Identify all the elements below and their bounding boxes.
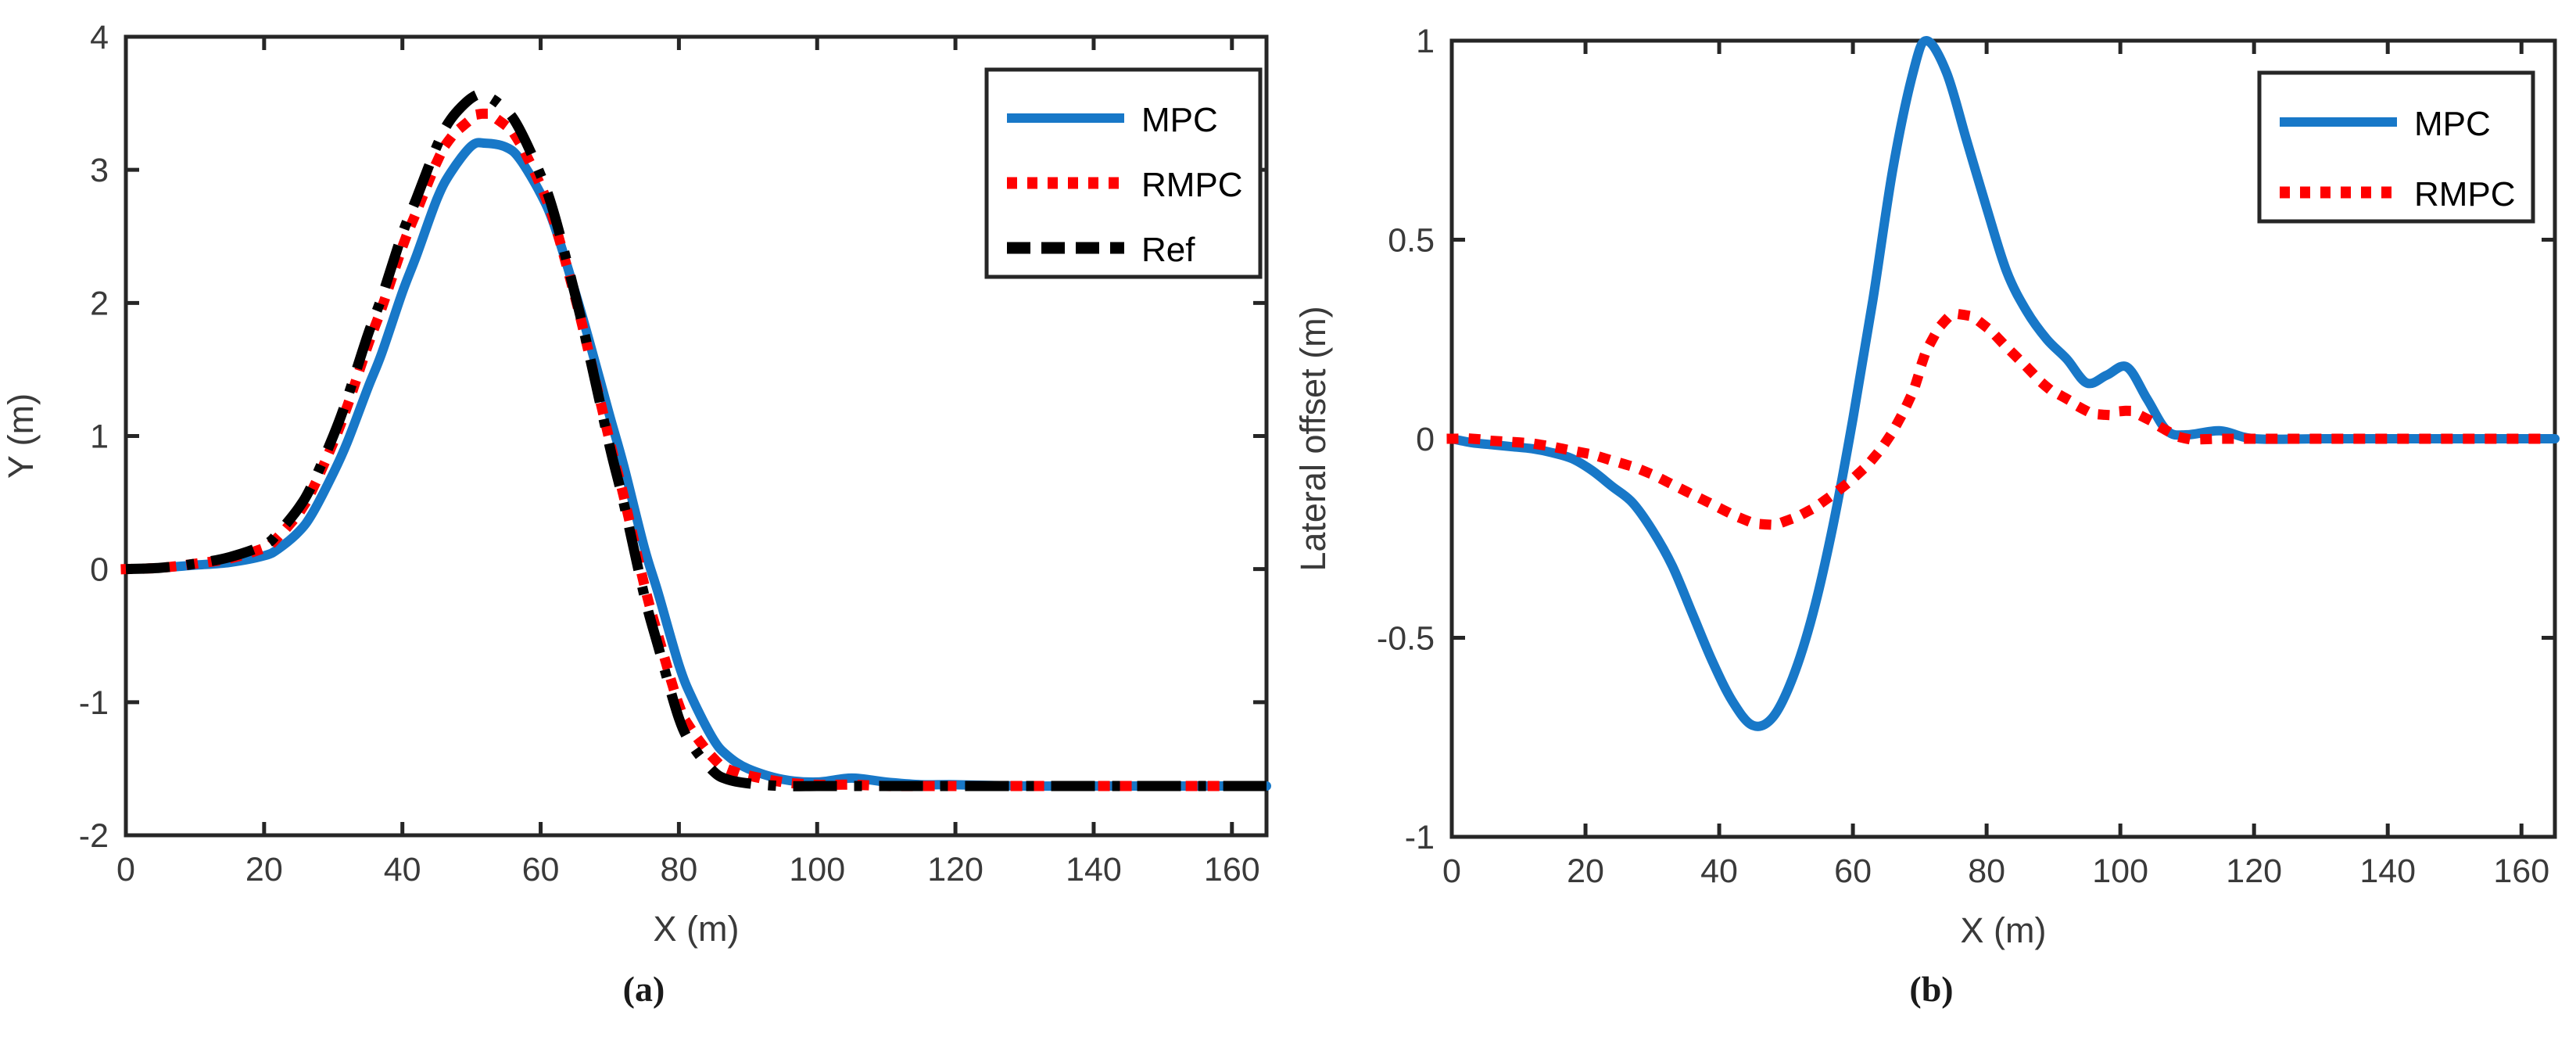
y-tick-label: 0 bbox=[90, 551, 109, 589]
x-tick-label: 100 bbox=[789, 851, 845, 888]
x-tick-label: 20 bbox=[245, 851, 283, 888]
y-tick-label: 1 bbox=[1416, 23, 1435, 60]
panel-a-caption: (a) bbox=[0, 968, 1288, 1010]
x-tick-label: 80 bbox=[660, 851, 697, 888]
x-tick-label: 120 bbox=[927, 851, 983, 888]
legend-label-ref: Ref bbox=[1141, 231, 1195, 269]
x-tick-label: 60 bbox=[522, 851, 560, 888]
y-tick-label: 4 bbox=[90, 19, 109, 56]
panel-b-caption: (b) bbox=[1288, 968, 2575, 1010]
x-tick-label: 100 bbox=[2092, 852, 2148, 890]
x-tick-label: 160 bbox=[2493, 852, 2549, 890]
legend: MPCRMPCRef bbox=[987, 70, 1260, 277]
panel-b: 020406080100120140160-1-0.500.51X (m)Lat… bbox=[1288, 0, 2575, 1048]
panel-a: 020406080100120140160-2-101234X (m)Y (m)… bbox=[0, 0, 1288, 1048]
x-tick-label: 140 bbox=[2359, 852, 2416, 890]
y-tick-label: 2 bbox=[90, 285, 109, 322]
legend-label-rmpc: RMPC bbox=[1141, 166, 1243, 204]
y-tick-label: 1 bbox=[90, 418, 109, 456]
chart-a: 020406080100120140160-2-101234X (m)Y (m)… bbox=[0, 0, 1288, 954]
legend-label-rmpc: RMPC bbox=[2414, 175, 2516, 214]
x-tick-label: 140 bbox=[1066, 851, 1122, 888]
figure-container: 020406080100120140160-2-101234X (m)Y (m)… bbox=[0, 0, 2576, 1048]
y-axis-label: Y (m) bbox=[1, 393, 41, 479]
x-tick-label: 0 bbox=[1442, 852, 1461, 890]
legend: MPCRMPC bbox=[2259, 73, 2533, 221]
x-tick-label: 0 bbox=[116, 851, 135, 888]
x-tick-label: 60 bbox=[1834, 852, 1872, 890]
y-tick-label: 0.5 bbox=[1388, 222, 1435, 260]
legend-label-mpc: MPC bbox=[2414, 105, 2491, 143]
x-tick-label: 120 bbox=[2226, 852, 2282, 890]
x-tick-label: 80 bbox=[1968, 852, 2005, 890]
y-tick-label: -1 bbox=[79, 684, 109, 722]
legend-label-mpc: MPC bbox=[1141, 101, 1218, 139]
x-axis-label: X (m) bbox=[654, 909, 740, 949]
x-axis-label: X (m) bbox=[1961, 910, 2047, 950]
chart-b: 020406080100120140160-1-0.500.51X (m)Lat… bbox=[1288, 0, 2575, 954]
x-tick-label: 40 bbox=[384, 851, 421, 888]
x-tick-label: 160 bbox=[1204, 851, 1260, 888]
x-tick-label: 40 bbox=[1700, 852, 1738, 890]
y-tick-label: 3 bbox=[90, 152, 109, 189]
y-tick-label: -0.5 bbox=[1377, 620, 1435, 658]
y-tick-label: -1 bbox=[1405, 819, 1435, 856]
y-tick-label: 0 bbox=[1416, 421, 1435, 458]
x-tick-label: 20 bbox=[1567, 852, 1604, 890]
y-axis-label: Lateral offset (m) bbox=[1293, 306, 1333, 571]
y-tick-label: -2 bbox=[79, 817, 109, 855]
